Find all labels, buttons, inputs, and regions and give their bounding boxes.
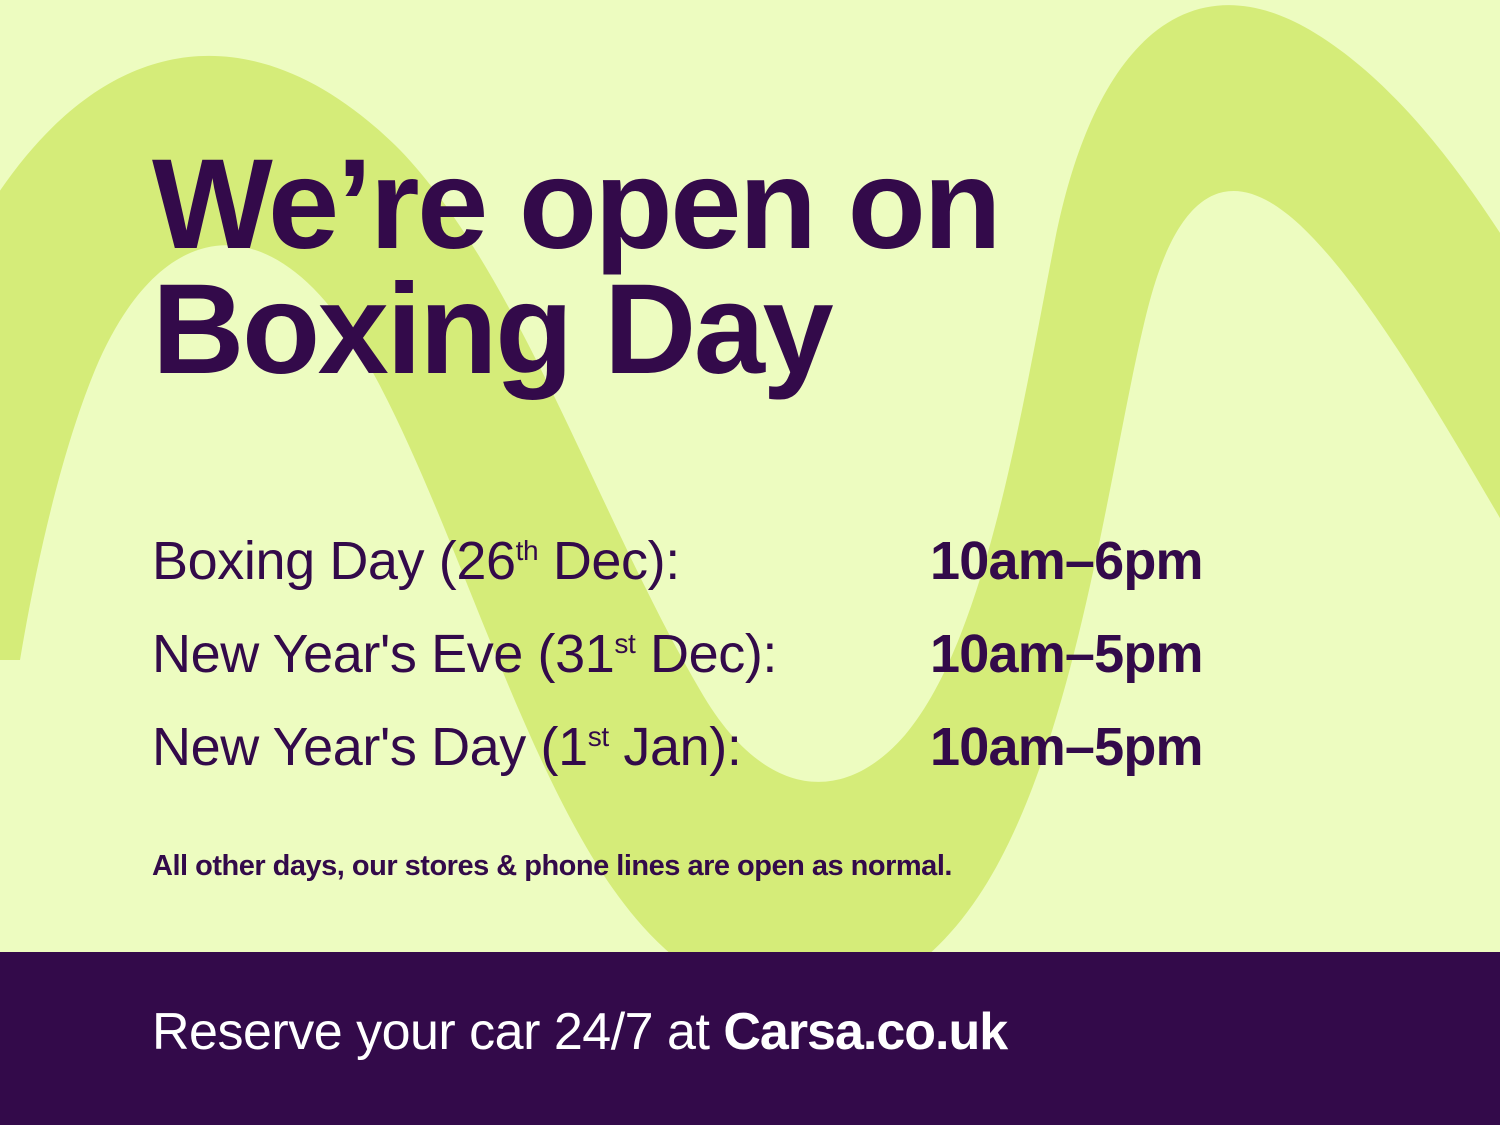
footer-lead-text: Reserve your car 24/7 at	[152, 1003, 723, 1061]
ordinal-suffix: st	[588, 721, 609, 752]
table-row: New Year's Eve (31st Dec): 10am–5pm	[152, 627, 1352, 720]
hours-day-text: New Year's Day (1	[152, 717, 588, 777]
table-row: Boxing Day (26th Dec): 10am–6pm	[152, 534, 1352, 627]
ordinal-suffix: th	[516, 535, 539, 566]
fineprint-note: All other days, our stores & phone lines…	[152, 850, 952, 883]
headline-line-2: Boxing Day	[152, 267, 1332, 392]
hours-day-label: New Year's Eve (31st Dec):	[152, 627, 777, 681]
ordinal-suffix: st	[614, 628, 635, 659]
hours-day-text: New Year's Eve (31	[152, 624, 614, 684]
hours-day-text: Boxing Day (26	[152, 531, 516, 591]
hours-time-value: 10am–6pm	[930, 534, 1203, 588]
hours-day-text-tail: Dec):	[538, 531, 680, 591]
hours-time-value: 10am–5pm	[930, 627, 1203, 681]
hours-day-text-tail: Dec):	[635, 624, 777, 684]
brand-name: Carsa.co.uk	[723, 1003, 1007, 1061]
hours-day-label: New Year's Day (1st Jan):	[152, 720, 741, 774]
footer-cta-text: Reserve your car 24/7 at Carsa.co.uk	[152, 1006, 1007, 1058]
footer-banner: Reserve your car 24/7 at Carsa.co.uk	[0, 952, 1500, 1125]
table-row: New Year's Day (1st Jan): 10am–5pm	[152, 720, 1352, 813]
hours-day-text-tail: Jan):	[609, 717, 742, 777]
poster-content: We’re open on Boxing Day Boxing Day (26t…	[0, 0, 1500, 952]
opening-hours-table: Boxing Day (26th Dec): 10am–6pm New Year…	[152, 534, 1352, 813]
hours-day-label: Boxing Day (26th Dec):	[152, 534, 680, 588]
hours-time-value: 10am–5pm	[930, 720, 1203, 774]
page-title: We’re open on Boxing Day	[152, 142, 1332, 393]
promo-poster: We’re open on Boxing Day Boxing Day (26t…	[0, 0, 1500, 1125]
headline-line-1: We’re open on	[152, 142, 1332, 267]
